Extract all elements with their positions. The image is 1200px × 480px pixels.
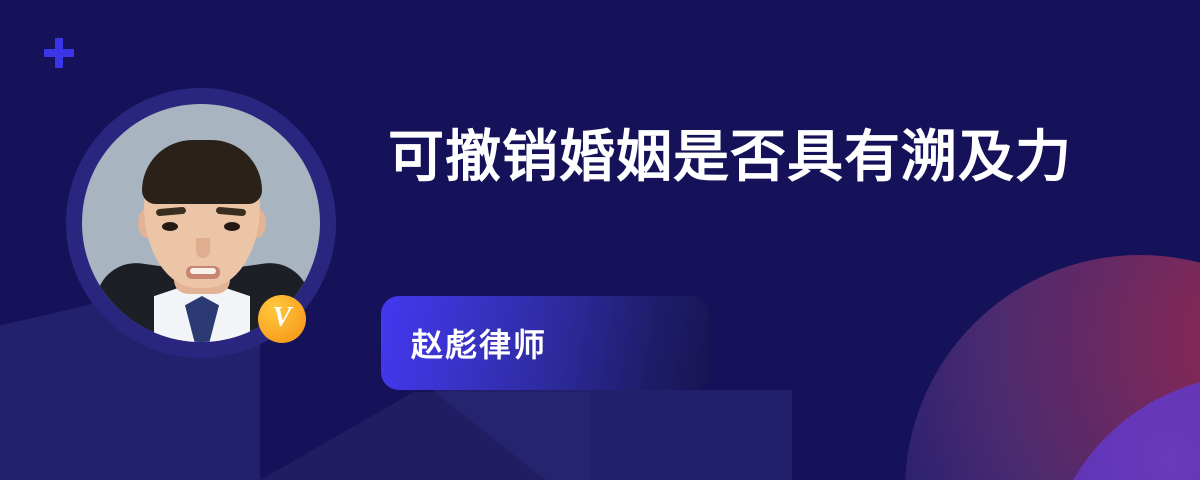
page-title: 可撤销婚姻是否具有溯及力 [388,118,1088,198]
verified-badge-icon: V [258,295,306,343]
plus-icon [44,38,74,68]
portrait-eye-right [224,222,240,231]
promo-card: V 可撤销婚姻是否具有溯及力 赵彪律师 [0,0,1200,480]
portrait-teeth [190,268,216,274]
portrait-eye-left [162,222,178,231]
portrait-hair [142,140,262,204]
author-name-button[interactable]: 赵彪律师 [381,296,709,390]
author-name-label: 赵彪律师 [411,320,547,366]
portrait-nose [196,238,210,258]
verified-badge-label: V [273,304,292,332]
